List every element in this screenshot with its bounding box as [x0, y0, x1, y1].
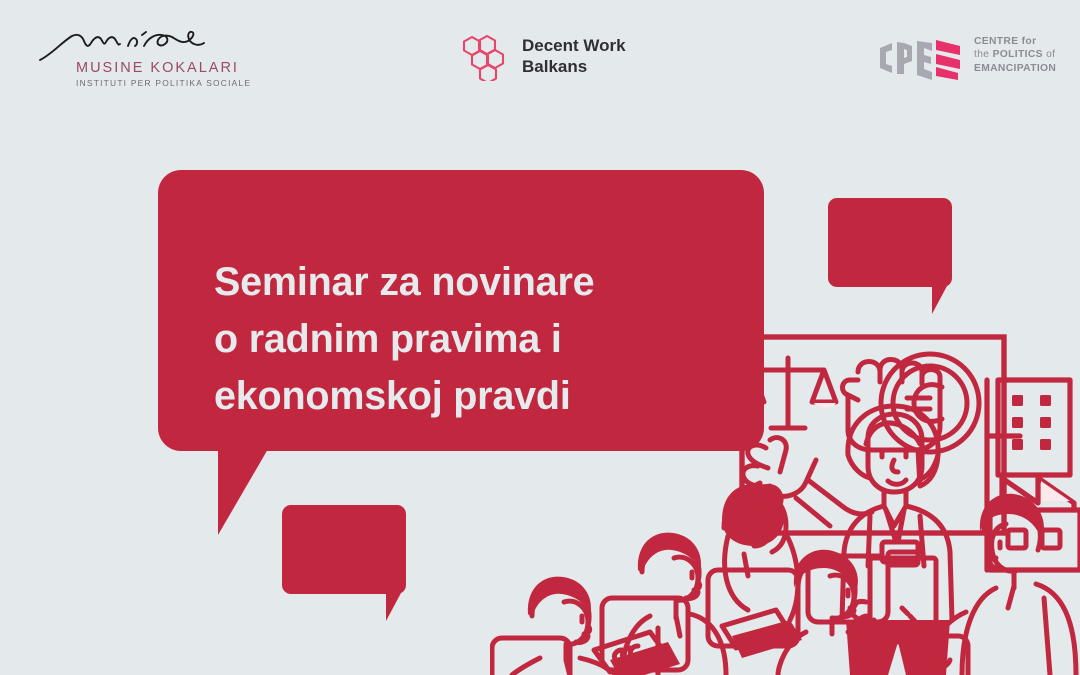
signature-squiggle-icon — [32, 28, 222, 62]
audience-1-hair — [528, 577, 591, 618]
main-bubble-tail — [218, 449, 268, 535]
audience-2-hair — [638, 533, 701, 574]
logo-mk-name: MUSINE KOKALARI — [76, 60, 239, 76]
logo-cpe-line3: EMANCIPATION — [974, 63, 1056, 74]
logo-dw-text: Decent WorkBalkans — [522, 35, 626, 77]
factory-windows — [1008, 530, 1060, 548]
logo-musine-kokalari: MUSINE KOKALARI INSTITUTI PER POLITIKA S… — [32, 28, 222, 90]
bubble-tail — [932, 286, 947, 314]
notebook-accent-2 — [732, 620, 802, 658]
logo-cpe-line2-c: of — [1043, 49, 1056, 60]
logo-cpe: CENTRE forthe POLITICS ofEMANCIPATION — [878, 33, 1068, 85]
office-building-icon — [998, 380, 1070, 475]
logo-cpe-line1: CENTRE for — [974, 36, 1036, 47]
scale-pan-right-fill — [814, 403, 836, 408]
logo-decent-work-balkans: Decent WorkBalkans — [462, 33, 662, 83]
office-windows — [1012, 395, 1051, 450]
decorative-bubble-lower-left — [282, 505, 406, 594]
logo-cpe-text: CENTRE forthe POLITICS ofEMANCIPATION — [974, 35, 1056, 75]
logo-cpe-line2-a: the — [974, 49, 993, 60]
logo-mk-subtitle: INSTITUTI PER POLITIKA SOCIALE — [76, 78, 251, 88]
poster-canvas: MUSINE KOKALARI INSTITUTI PER POLITIKA S… — [0, 0, 1080, 675]
decorative-bubble-upper-right — [828, 198, 952, 287]
logo-cpe-line2-b: POLITICS — [993, 49, 1043, 60]
bubble-tail — [386, 593, 401, 621]
cpe-monogram-icon — [878, 36, 962, 80]
honeycomb-hexagons-icon — [462, 35, 512, 81]
logo-bar: MUSINE KOKALARI INSTITUTI PER POLITIKA S… — [0, 0, 1080, 110]
page-title: Seminar za novinare o radnim pravima i e… — [214, 254, 754, 425]
logo-dw-line1: Decent Work — [522, 36, 626, 55]
logo-dw-line2: Balkans — [522, 57, 587, 76]
